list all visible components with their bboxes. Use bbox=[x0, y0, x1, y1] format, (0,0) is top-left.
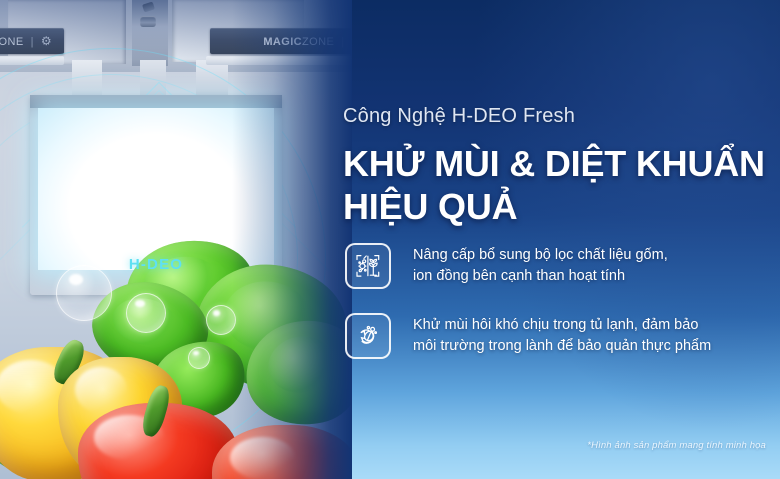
air-bubble bbox=[126, 293, 166, 333]
feature-line-2: ion đồng bên cạnh than hoạt tính bbox=[413, 266, 668, 287]
content-panel: Công Nghệ H-DEO Fresh KHỬ MÙI & DIỆT KHU… bbox=[343, 0, 780, 479]
feature-item: Khử mùi hôi khó chịu trong tủ lạnh, đảm … bbox=[345, 313, 780, 359]
disclaimer-text: *Hình ảnh sản phẩm mang tính minh họa bbox=[587, 440, 766, 451]
air-bubble bbox=[56, 265, 112, 321]
feature-item: Nâng cấp bổ sung bộ lọc chất liệu gốm, i… bbox=[345, 243, 780, 289]
feature-text: Nâng cấp bổ sung bộ lọc chất liệu gốm, i… bbox=[413, 245, 668, 287]
air-bubble bbox=[188, 347, 210, 369]
photo-edge-fade bbox=[232, 0, 352, 479]
feature-line-1: Khử mùi hôi khó chịu trong tủ lạnh, đảm … bbox=[413, 315, 711, 336]
headline-line-2: HIỆU QUẢ bbox=[343, 186, 780, 229]
promo-banner: ONE|⚙ MAGICZONE|⚙ H-DEO bbox=[0, 0, 780, 479]
air-duct-right bbox=[196, 60, 228, 100]
leaf-deodorize-icon bbox=[345, 313, 391, 359]
feature-list: Nâng cấp bổ sung bộ lọc chất liệu gốm, i… bbox=[345, 243, 780, 383]
feature-line-1: Nâng cấp bổ sung bộ lọc chất liệu gốm, bbox=[413, 245, 668, 266]
headline-line-1: KHỬ MÙI & DIỆT KHUẨN bbox=[343, 143, 780, 186]
eyebrow-text: Công Nghệ H-DEO Fresh bbox=[343, 105, 575, 128]
page-title: KHỬ MÙI & DIỆT KHUẨN HIỆU QUẢ bbox=[343, 143, 780, 229]
germ-plant-filter-icon bbox=[345, 243, 391, 289]
product-photo: ONE|⚙ MAGICZONE|⚙ H-DEO bbox=[0, 0, 352, 479]
feature-text: Khử mùi hôi khó chịu trong tủ lạnh, đảm … bbox=[413, 315, 711, 357]
feature-line-2: môi trường trong lành để bảo quản thực p… bbox=[413, 336, 711, 357]
